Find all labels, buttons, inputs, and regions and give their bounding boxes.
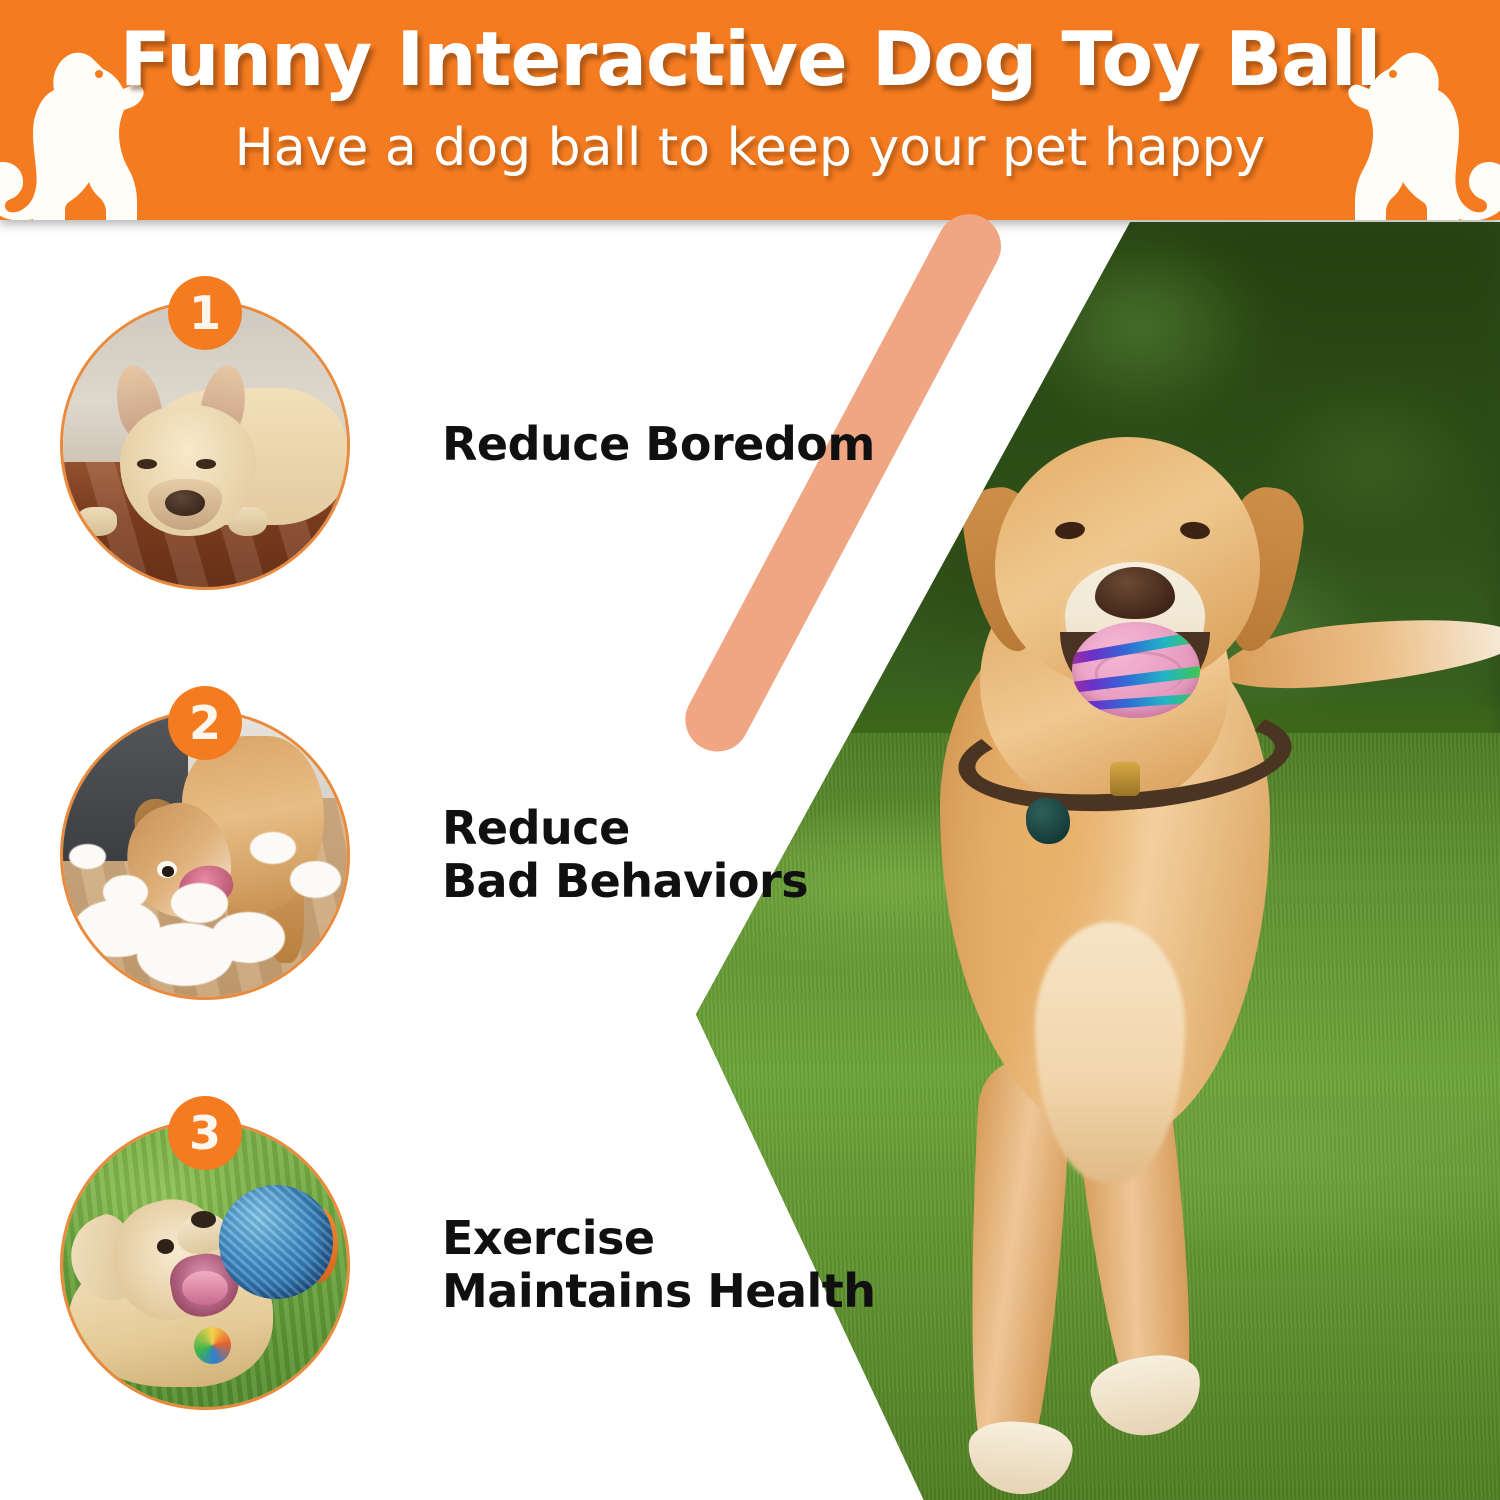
feature-item-2: 2 Reduce Bad Behaviors bbox=[60, 710, 808, 1000]
photo-dog-tongue bbox=[182, 1271, 227, 1305]
feature-circle-1: 1 bbox=[60, 300, 350, 590]
collar-tag-icon bbox=[1026, 798, 1070, 844]
feature-circle-2: 2 bbox=[60, 710, 350, 1000]
feature-label-3: Exercise Maintains Health bbox=[442, 1212, 876, 1319]
photo-dog-eye bbox=[157, 1239, 174, 1253]
banner-title: Funny Interactive Dog Toy Ball bbox=[0, 22, 1500, 97]
photo-dog-eye bbox=[196, 459, 216, 469]
photo-stuffing-fluff bbox=[171, 883, 228, 923]
feature-badge-2: 2 bbox=[168, 686, 242, 760]
photo-colorful-tag bbox=[194, 1327, 231, 1364]
feature-badge-3: 3 bbox=[168, 1096, 242, 1170]
header-banner: Funny Interactive Dog Toy Ball Have a do… bbox=[0, 0, 1500, 220]
photo-blue-ball bbox=[219, 1185, 333, 1299]
feature-item-3: 3 Exercise Maintains Health bbox=[60, 1120, 876, 1410]
feature-item-1: 1 Reduce Boredom bbox=[60, 300, 875, 590]
photo-stuffing-fluff bbox=[250, 832, 295, 863]
hero-dog-nose bbox=[1095, 567, 1175, 619]
collar-buckle-icon bbox=[1110, 762, 1140, 796]
banner-subtitle: Have a dog ball to keep your pet happy bbox=[0, 122, 1500, 174]
feature-circle-3: 3 bbox=[60, 1120, 350, 1410]
photo-stuffing-fluff bbox=[69, 844, 106, 870]
feature-label-2: Reduce Bad Behaviors bbox=[442, 802, 808, 909]
feature-label-1: Reduce Boredom bbox=[442, 418, 875, 471]
feature-badge-1: 1 bbox=[168, 276, 242, 350]
dog-silhouette-icon bbox=[1342, 30, 1500, 220]
photo-dog-nose bbox=[165, 490, 205, 516]
product-infographic: Funny Interactive Dog Toy Ball Have a do… bbox=[0, 0, 1500, 1500]
photo-dog-paw bbox=[77, 507, 117, 535]
photo-dog-pupil bbox=[162, 866, 173, 876]
photo-ball-texture bbox=[219, 1185, 333, 1299]
photo-stuffing-fluff bbox=[137, 923, 234, 985]
photo-dog-eye bbox=[137, 459, 157, 469]
photo-stuffing-fluff bbox=[290, 861, 341, 898]
